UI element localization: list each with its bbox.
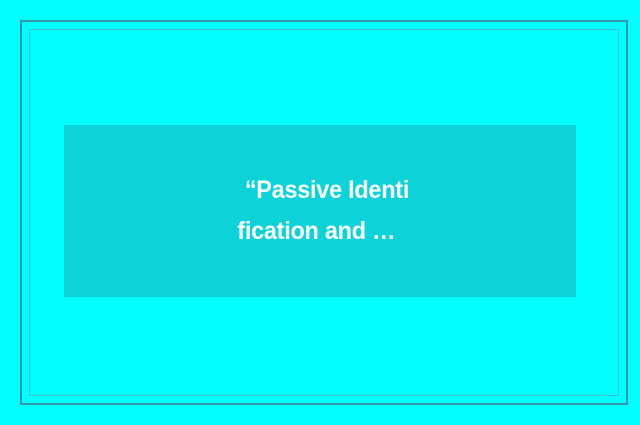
quote-line-1: “Passive Identi bbox=[231, 170, 408, 211]
quote-line-2: fication and … bbox=[237, 211, 402, 252]
quote-panel: “Passive Identi fication and … bbox=[64, 125, 576, 297]
slide-canvas: “Passive Identi fication and … bbox=[0, 0, 640, 425]
